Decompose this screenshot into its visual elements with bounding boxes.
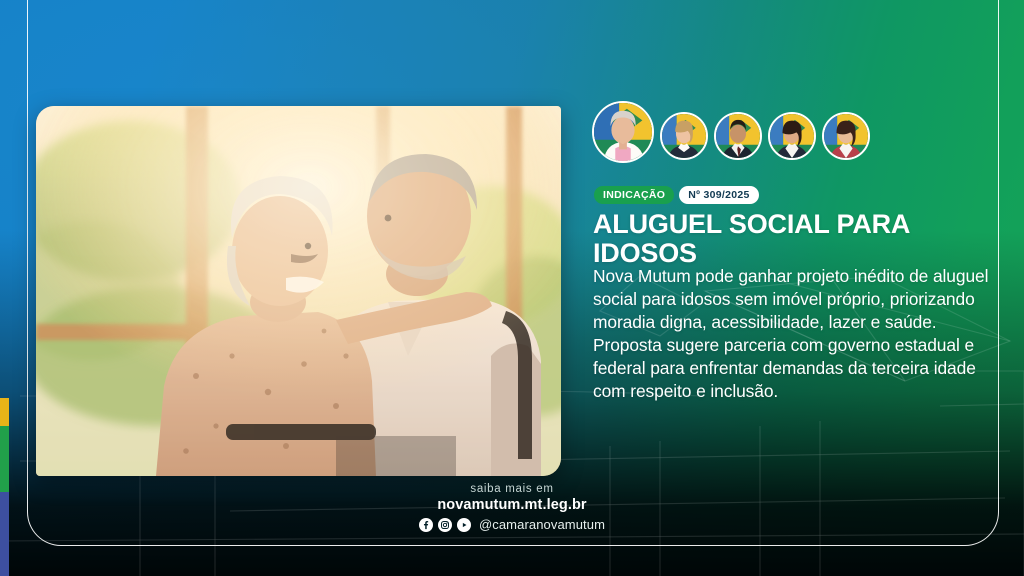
avatar-councilwoman-5[interactable] <box>822 112 870 160</box>
youtube-icon[interactable] <box>457 518 471 532</box>
feature-photo-image <box>36 106 561 476</box>
page-title: ALUGUEL SOCIAL PARA IDOSOS <box>593 210 973 268</box>
footer: saiba mais em novamutum.mt.leg.br @camar… <box>0 482 1024 532</box>
badge-kind: INDICAÇÃO <box>594 186 674 204</box>
avatar-councilman-3[interactable] <box>714 112 762 160</box>
footer-social-row: @camaranovamutum <box>0 517 1024 532</box>
badge-number: Nº 309/2025 <box>679 186 758 204</box>
feature-photo <box>36 106 561 476</box>
poster-canvas: INDICAÇÃO Nº 309/2025 ALUGUEL SOCIAL PAR… <box>0 0 1024 576</box>
facebook-icon[interactable] <box>419 518 433 532</box>
avatar-councilwoman-4[interactable] <box>768 112 816 160</box>
avatar-councilwoman-1[interactable] <box>592 101 654 163</box>
badge-row: INDICAÇÃO Nº 309/2025 <box>594 186 759 204</box>
avatar-councilwoman-2[interactable] <box>660 112 708 160</box>
instagram-icon[interactable] <box>438 518 452 532</box>
footer-website[interactable]: novamutum.mt.leg.br <box>0 496 1024 515</box>
councilmember-avatar-row <box>592 101 870 163</box>
footer-social-handle[interactable]: @camaranovamutum <box>479 517 605 532</box>
accent-strip-yellow <box>0 398 9 426</box>
footer-pre-text: saiba mais em <box>0 482 1024 496</box>
summary-text: Nova Mutum pode ganhar projeto inédito d… <box>593 265 993 403</box>
